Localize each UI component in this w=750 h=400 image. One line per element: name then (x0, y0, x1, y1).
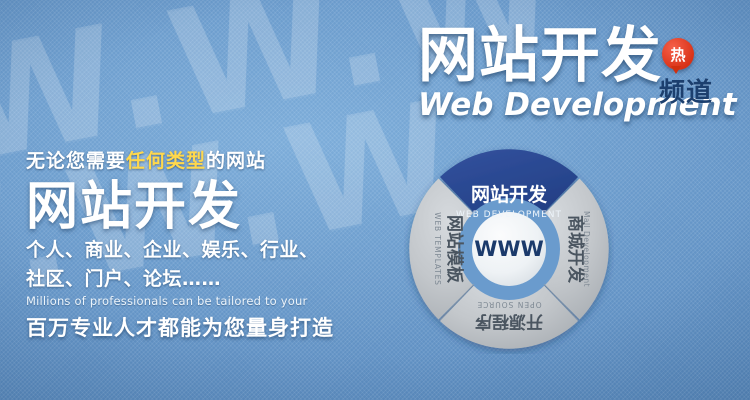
footer-tagline: 百万专业人才都能为您量身打造 (26, 312, 366, 342)
english-subtitle: Millions of professionals can be tailore… (26, 294, 366, 308)
tagline-highlight: 任何类型 (126, 150, 206, 172)
segment-label-top-cn: 网站开发 (471, 183, 548, 206)
services-donut-diagram: WWW 网站开发 WEB DEVELOPMENT 网站模板 WEB TEMPLA… (404, 144, 614, 354)
web-development-banner: W.W.W W.W.W 无论您需要任何类型的网站 网站开发 个人、商业、企业、娱… (0, 0, 750, 400)
hot-badge-icon: 热 (662, 38, 694, 70)
center-www-label: WWW (474, 237, 544, 261)
segment-label-bottom-cn: 开源程序 (475, 311, 543, 332)
segment-label-right-group: 商城开发 Mall Development (565, 211, 591, 287)
segment-label-right-en: Mall Development (582, 211, 591, 287)
donut-svg: WWW 网站开发 WEB DEVELOPMENT 网站模板 WEB TEMPLA… (404, 144, 614, 354)
left-copy-block: 无论您需要任何类型的网站 网站开发 个人、商业、企业、娱乐、行业、 社区、门户、… (26, 150, 366, 342)
main-headline: 网站开发 (26, 180, 366, 235)
segment-label-bottom-en: OPEN SOURCE (476, 300, 541, 309)
tagline: 无论您需要任何类型的网站 (26, 150, 366, 174)
segment-label-left-en: WEB TEMPLATES (433, 212, 442, 285)
header-title-cn: 网站开发 (418, 26, 662, 86)
segment-label-top-en: WEB DEVELOPMENT (456, 210, 562, 220)
tagline-prefix: 无论您需要 (26, 150, 126, 172)
segment-label-left-cn: 网站模板 (444, 215, 465, 284)
segment-label-bottom-group: 开源程序 OPEN SOURCE (475, 300, 543, 332)
tagline-suffix: 的网站 (206, 150, 266, 172)
category-list-line-2: 社区、门户、论坛…… (26, 267, 366, 291)
channel-label: 频道 (659, 72, 713, 109)
category-list-line-1: 个人、商业、企业、娱乐、行业、 (26, 238, 366, 262)
segment-label-left-group: 网站模板 WEB TEMPLATES (433, 212, 465, 285)
